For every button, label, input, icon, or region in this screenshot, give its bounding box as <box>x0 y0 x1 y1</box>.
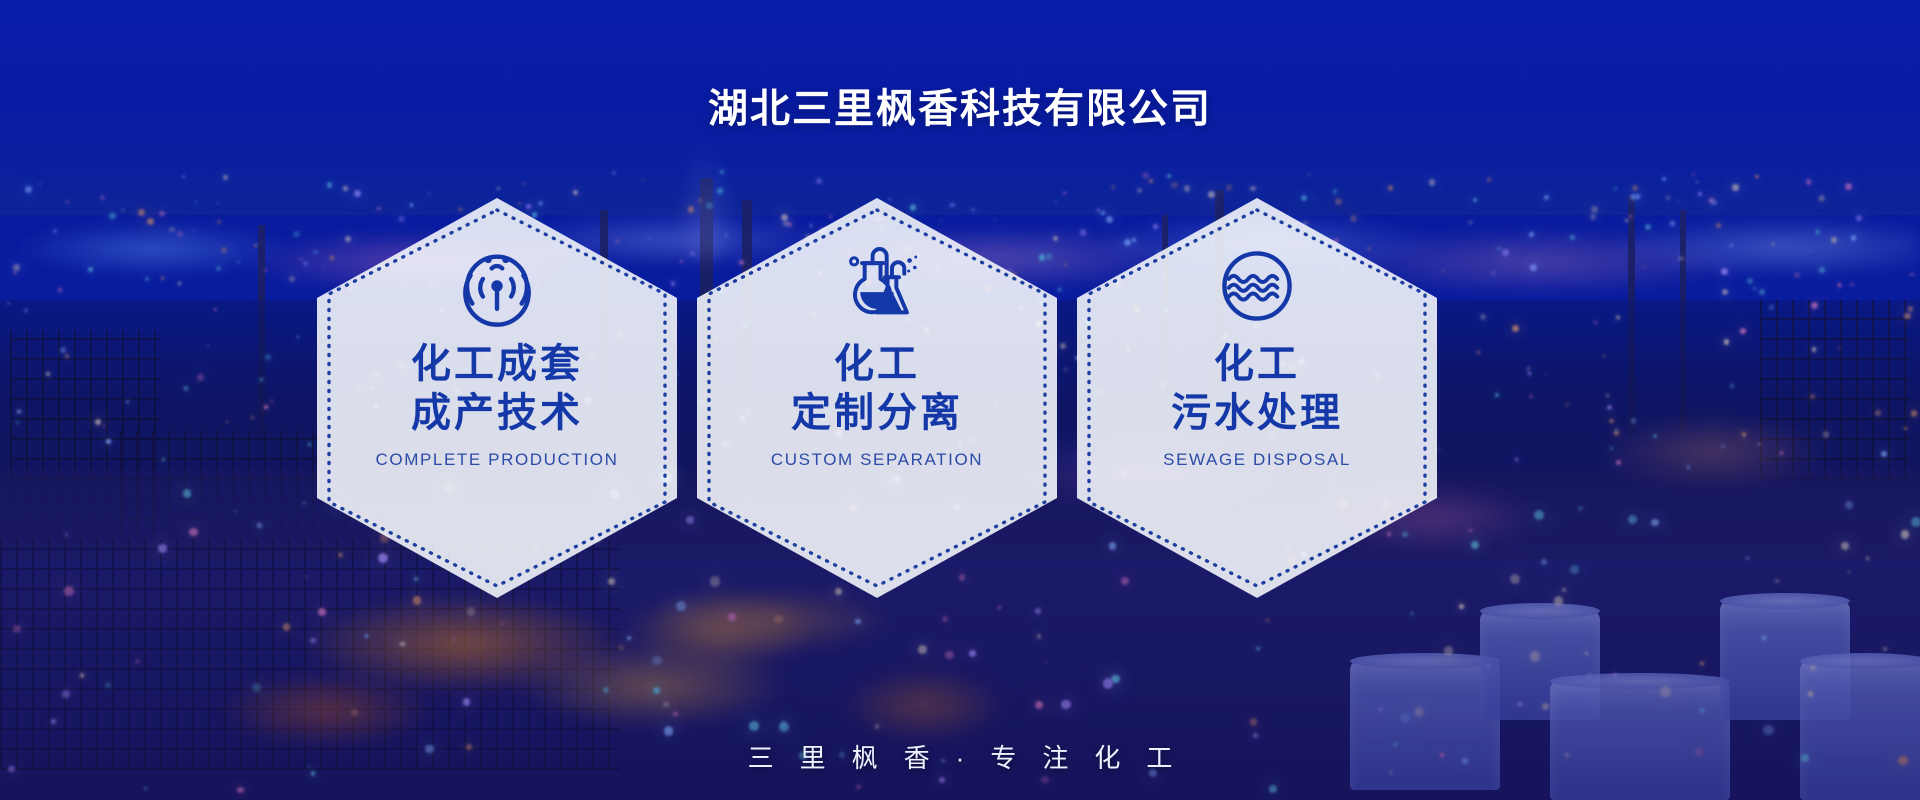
hero-banner: 湖北三里枫香科技有限公司 <box>0 0 1920 800</box>
service-card-title-line2: 定制分离 <box>791 389 963 438</box>
service-card-subtitle: COMPLETE PRODUCTION <box>376 450 619 470</box>
lab-flask-icon <box>833 242 921 330</box>
company-title: 湖北三里枫香科技有限公司 <box>0 76 1920 134</box>
service-card-title-line1: 化工 <box>1214 342 1300 386</box>
service-card-subtitle: SEWAGE DISPOSAL <box>1163 450 1351 470</box>
service-card-custom-separation[interactable]: 化工 定制分离 CUSTOM SEPARATION <box>697 198 1057 598</box>
service-card-title-line1: 化工成套 <box>411 342 583 386</box>
service-card-title: 化工 定制分离 <box>791 340 963 438</box>
service-card-subtitle: CUSTOM SEPARATION <box>771 450 983 470</box>
footer-slogan: 三里枫香·专注化工 <box>0 738 1920 775</box>
service-card-title-line2: 成产技术 <box>411 389 583 438</box>
service-card-title-line2: 污水处理 <box>1171 389 1343 438</box>
service-card-title: 化工 污水处理 <box>1171 340 1343 438</box>
water-waves-icon <box>1213 242 1301 330</box>
service-card-complete-production[interactable]: 化工成套 成产技术 COMPLETE PRODUCTION <box>317 198 677 598</box>
service-card-title: 化工成套 成产技术 <box>411 340 583 438</box>
service-card-title-line1: 化工 <box>834 342 920 386</box>
service-card-sewage-disposal[interactable]: 化工 污水处理 SEWAGE DISPOSAL <box>1077 198 1437 598</box>
broadcast-signal-icon <box>453 242 541 330</box>
